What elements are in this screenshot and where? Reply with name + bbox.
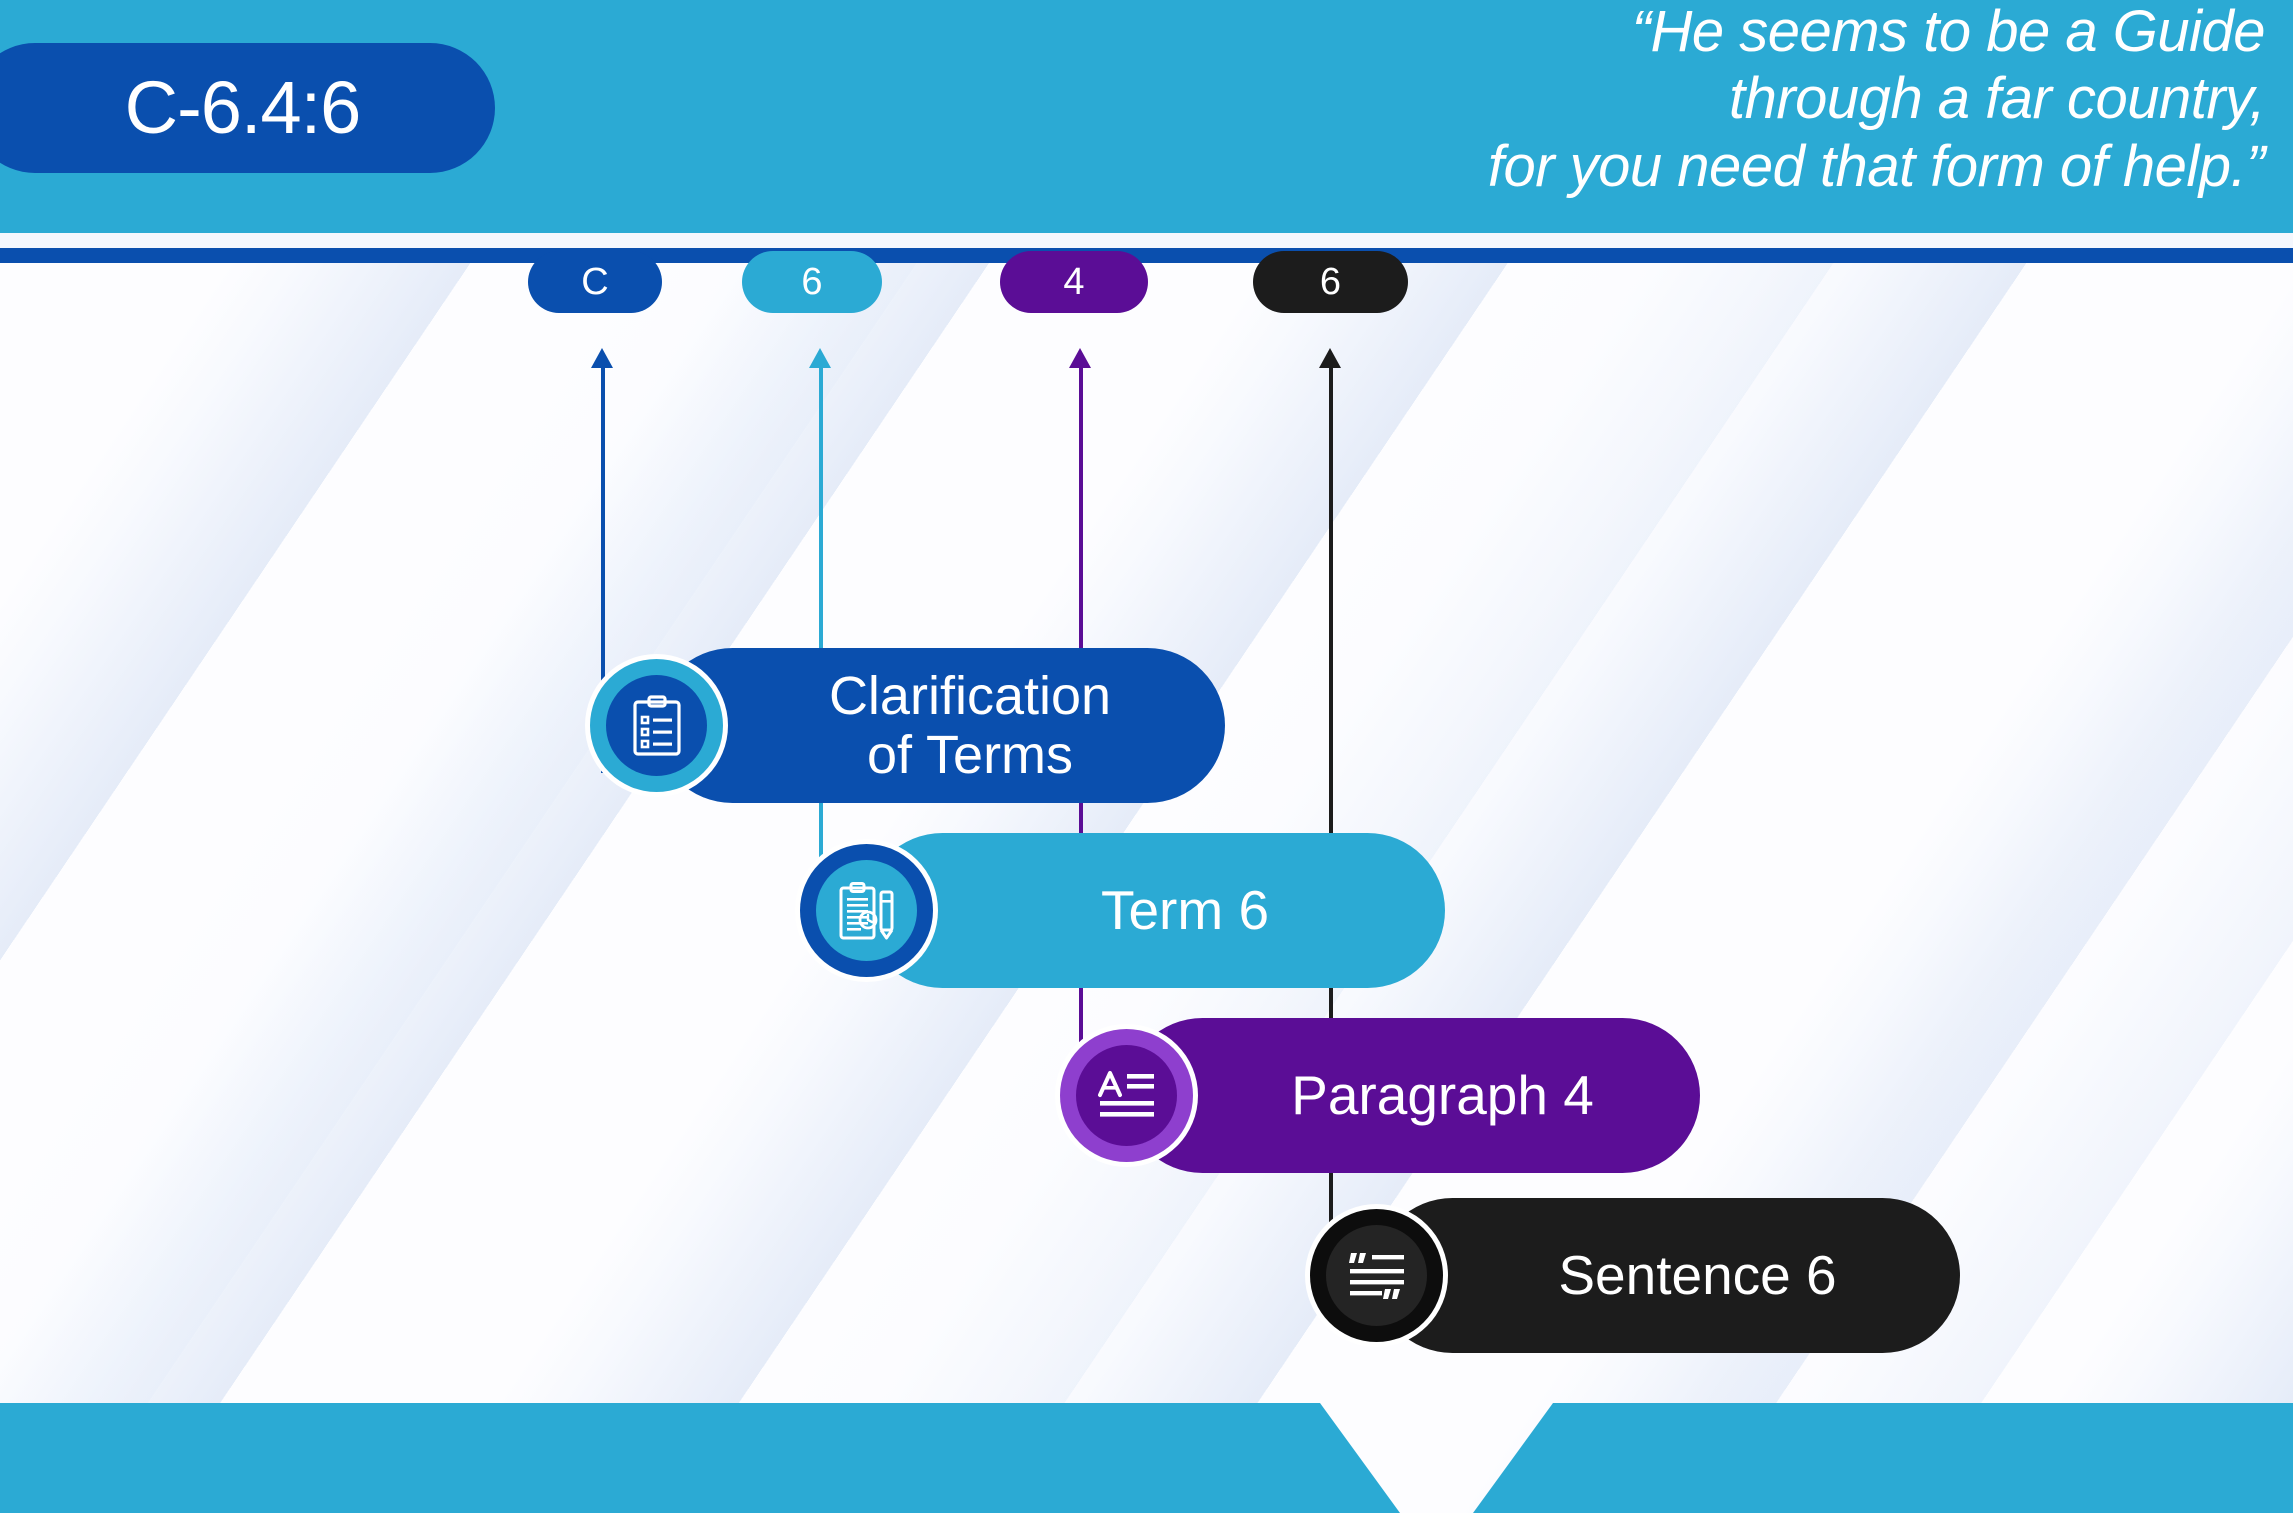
- clipboard-checklist-icon: [628, 695, 686, 757]
- node-sentence-6-icon-inner: [1326, 1225, 1427, 1326]
- node-term-6-label: Term 6: [865, 881, 1445, 940]
- slide-header: C-6.4:6 “He seems to be a Guide through …: [0, 0, 2293, 233]
- reference-code-label: C-6.4:6: [125, 71, 361, 145]
- badge-term-6[interactable]: 6: [742, 251, 882, 313]
- node-paragraph-4[interactable]: Paragraph 4: [1055, 1018, 1700, 1173]
- node-paragraph-4-icon-inner: [1076, 1045, 1177, 1146]
- badge-term-6-label: 6: [801, 263, 822, 301]
- node-clarification-icon-inner: [606, 675, 707, 776]
- badge-paragraph-4-label: 4: [1063, 263, 1084, 301]
- node-clarification-label-line2: of Terms: [867, 725, 1073, 785]
- hierarchy-diagram: C 6 4 6 Clarification of Terms: [0, 263, 2293, 1513]
- badge-sentence-6[interactable]: 6: [1253, 251, 1408, 313]
- node-clarification-of-terms[interactable]: Clarification of Terms: [585, 648, 1225, 803]
- clipboard-pencil-icon: [836, 880, 898, 942]
- badge-paragraph-4[interactable]: 4: [1000, 251, 1148, 313]
- node-term-6-bar[interactable]: Term 6: [865, 833, 1445, 988]
- node-paragraph-4-icon-outer: [1060, 1029, 1193, 1162]
- badge-chapter-c-label: C: [581, 263, 608, 301]
- quote-lines-icon: [1346, 1249, 1408, 1303]
- node-paragraph-4-label: Paragraph 4: [1125, 1066, 1700, 1125]
- node-clarification-label: Clarification of Terms: [655, 667, 1225, 784]
- node-clarification-icon-outer: [590, 659, 723, 792]
- footer-band-left: [0, 1403, 1400, 1513]
- badge-chapter-c[interactable]: C: [528, 251, 662, 313]
- header-blue-rule: [0, 248, 2293, 263]
- node-sentence-6-bar[interactable]: Sentence 6: [1375, 1198, 1960, 1353]
- header-gap-band: [0, 233, 2293, 248]
- reference-code-badge: C-6.4:6: [0, 43, 495, 173]
- node-sentence-6-icon-ring: [1305, 1204, 1448, 1347]
- node-clarification-label-line1: Clarification: [829, 666, 1111, 726]
- slide-footer: [0, 1403, 2293, 1513]
- quote-line-1: “He seems to be a Guide: [545, 0, 2265, 65]
- node-term-6[interactable]: Term 6: [795, 833, 1445, 988]
- node-term-6-icon-outer: [800, 844, 933, 977]
- node-term-6-icon-inner: [816, 860, 917, 961]
- quote-line-3: for you need that form of help.”: [545, 133, 2265, 200]
- footer-band-right: [1473, 1403, 2293, 1513]
- quote-line-2: through a far country,: [545, 65, 2265, 132]
- node-sentence-6-label: Sentence 6: [1375, 1246, 1960, 1305]
- node-paragraph-4-icon-ring: [1055, 1024, 1198, 1167]
- node-sentence-6-icon-outer: [1310, 1209, 1443, 1342]
- node-clarification-icon-ring: [585, 654, 728, 797]
- node-clarification-bar[interactable]: Clarification of Terms: [655, 648, 1225, 803]
- slide-canvas: C-6.4:6 “He seems to be a Guide through …: [0, 0, 2293, 1513]
- paragraph-text-icon: [1096, 1069, 1158, 1123]
- badge-sentence-6-label: 6: [1320, 263, 1341, 301]
- node-term-6-icon-ring: [795, 839, 938, 982]
- node-sentence-6[interactable]: Sentence 6: [1305, 1198, 1960, 1353]
- quote-block: “He seems to be a Guide through a far co…: [545, 0, 2265, 200]
- node-paragraph-4-bar[interactable]: Paragraph 4: [1125, 1018, 1700, 1173]
